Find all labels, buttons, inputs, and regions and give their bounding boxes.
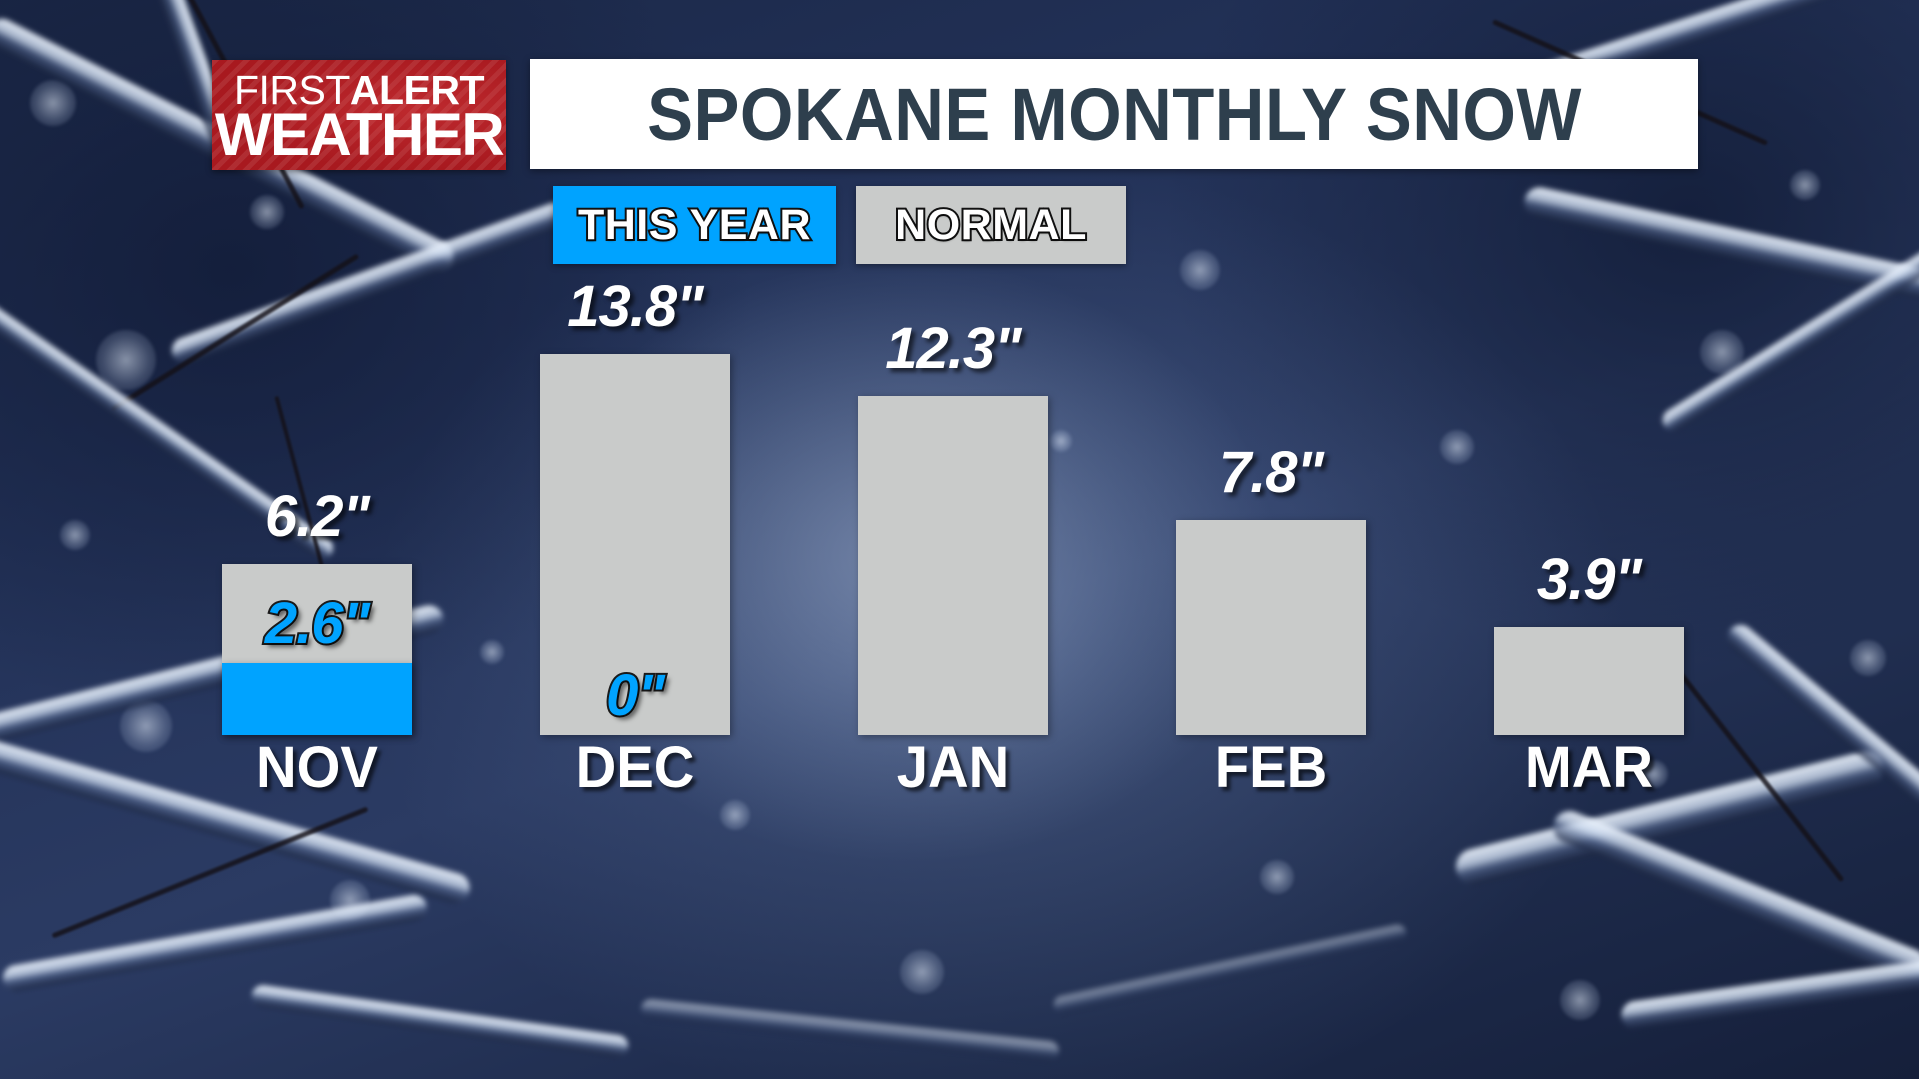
- legend-item-this-year[interactable]: THIS YEAR: [553, 186, 836, 264]
- legend-label-this-year: THIS YEAR: [578, 201, 811, 250]
- title-bar: SPOKANE MONTHLY SNOW: [530, 59, 1698, 169]
- legend-item-normal[interactable]: NORMAL: [856, 186, 1126, 264]
- chart-legend: THIS YEAR NORMAL: [553, 186, 1126, 264]
- logo-line-weather: WEATHER: [212, 104, 506, 166]
- page-title: SPOKANE MONTHLY SNOW: [647, 72, 1582, 157]
- first-alert-weather-logo: FIRSTALERT WEATHER: [212, 60, 506, 170]
- legend-label-normal: NORMAL: [895, 201, 1087, 250]
